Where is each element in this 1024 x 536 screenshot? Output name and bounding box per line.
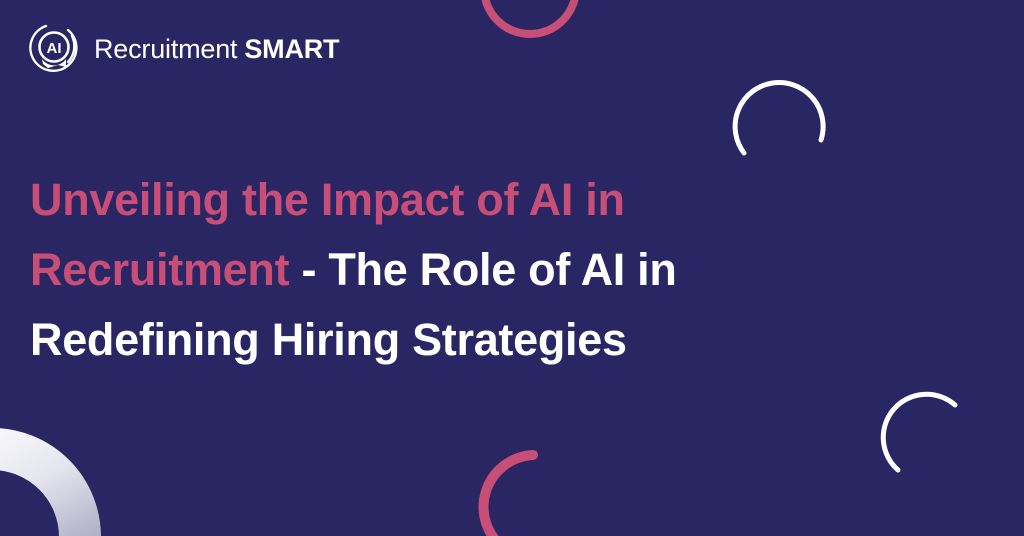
pink-arc-top: [484, 0, 576, 34]
pink-arc-bottom: [484, 455, 533, 536]
brand-wordmark: Recruitment SMART: [94, 34, 339, 63]
brand-logo[interactable]: AI Recruitment SMART: [28, 20, 339, 76]
brand-name-light: Recruitment: [94, 36, 237, 63]
promo-banner: AI Recruitment SMART Unveiling the Impac…: [0, 0, 1024, 536]
page-title: Unveiling the Impact of AI in Recruitmen…: [30, 165, 860, 375]
white-arc-top-right: [735, 82, 823, 153]
white-arc-right: [883, 394, 955, 470]
gradient-ring-bottom-left: [0, 449, 80, 536]
ai-chat-bubble-icon: AI: [28, 20, 80, 76]
brand-name-bold: SMART: [244, 36, 339, 63]
svg-text:AI: AI: [47, 40, 62, 57]
